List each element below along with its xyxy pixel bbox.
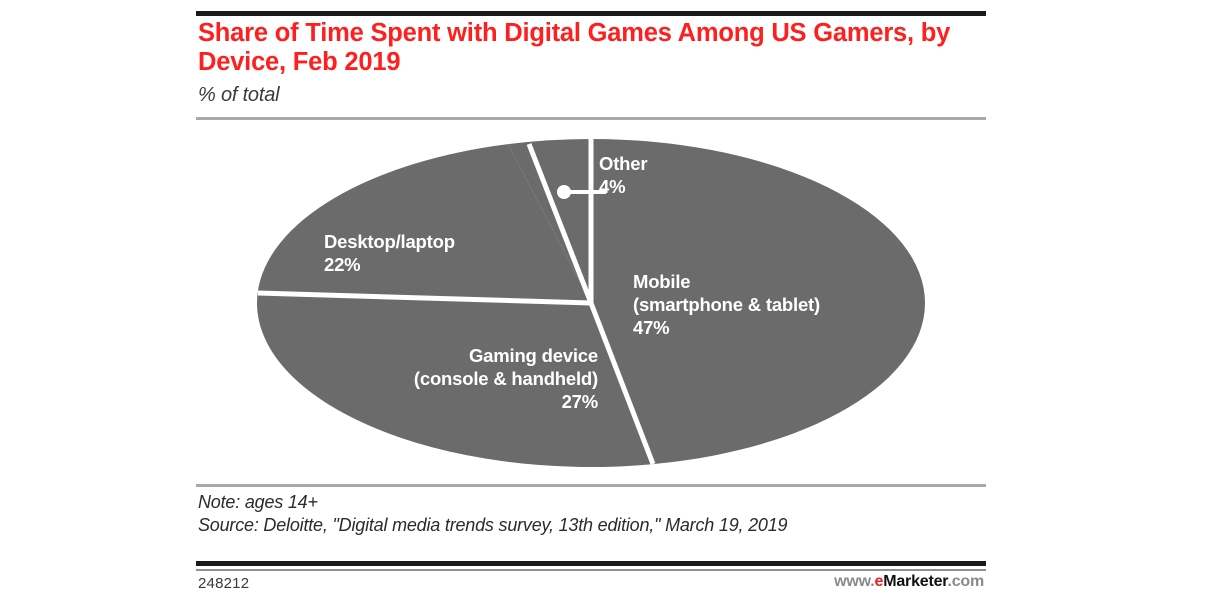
slice-label-desktop-name: Desktop/laptop <box>324 231 455 252</box>
note-divider-rule <box>196 484 986 487</box>
bottom-rule-thin <box>196 569 986 571</box>
slice-label-mobile-pct: 47% <box>633 316 820 339</box>
slice-label-gaming-pct: 27% <box>338 390 598 413</box>
chart-id-number: 248212 <box>198 575 249 592</box>
slice-label-desktop-pct: 22% <box>324 253 455 276</box>
slice-label-gaming-sub: (console & handheld) <box>338 367 598 390</box>
emarketer-brand[interactable]: www.eMarketer.com <box>834 573 984 591</box>
footnote-block: Note: ages 14+ Source: Deloitte, "Digita… <box>198 491 968 536</box>
slice-label-desktop-laptop: Desktop/laptop 22% <box>324 230 455 276</box>
slice-label-other-name: Other <box>599 153 647 174</box>
page-title: Share of Time Spent with Digital Games A… <box>198 19 958 77</box>
slice-label-other: Other 4% <box>599 152 647 198</box>
slice-label-mobile: Mobile (smartphone & tablet) 47% <box>633 270 820 339</box>
brand-com: .com <box>947 573 984 590</box>
header-divider-rule <box>196 117 986 120</box>
bottom-rule-thick <box>196 561 986 566</box>
other-callout-dot <box>557 185 571 199</box>
top-rule <box>196 11 986 16</box>
emarketer-chart-card: Share of Time Spent with Digital Games A… <box>196 0 986 607</box>
footnote-source: Source: Deloitte, "Digital media trends … <box>198 514 968 537</box>
slice-label-other-pct: 4% <box>599 175 647 198</box>
pie-chart: Desktop/laptop 22% Mobile (smartphone & … <box>196 122 986 482</box>
slice-label-mobile-name: Mobile <box>633 271 690 292</box>
pie-chart-svg <box>196 122 986 482</box>
footnote-note: Note: ages 14+ <box>198 491 968 514</box>
brand-www: www. <box>834 573 874 590</box>
chart-subtitle: % of total <box>198 84 279 107</box>
slice-label-mobile-sub: (smartphone & tablet) <box>633 293 820 316</box>
brand-marketer: Marketer <box>883 573 947 590</box>
slice-label-gaming-device: Gaming device (console & handheld) 27% <box>338 344 598 413</box>
slice-label-gaming-name: Gaming device <box>469 345 598 366</box>
brand-e-letter: e <box>875 573 884 590</box>
